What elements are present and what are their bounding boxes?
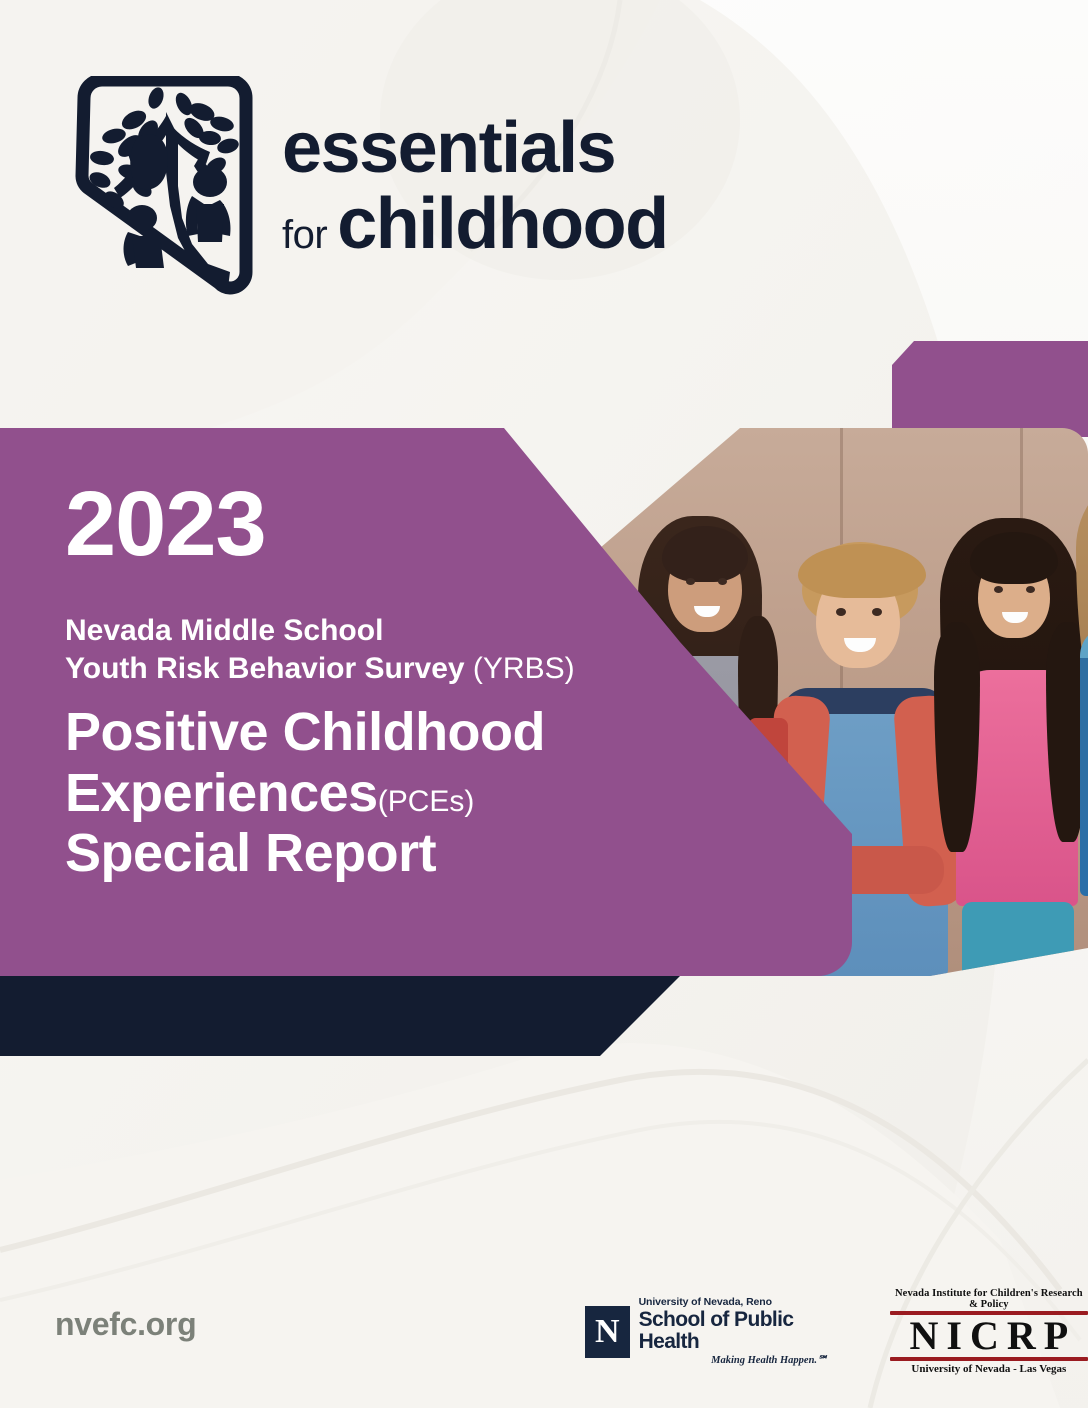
- brand-logo[interactable]: essentials for childhood: [70, 76, 668, 308]
- survey-subtitle: Nevada Middle School Youth Risk Behavior…: [65, 612, 645, 688]
- title-abbreviation: (PCEs): [378, 785, 475, 818]
- photo-child-3: [938, 502, 1088, 976]
- title-line-3: Special Report: [65, 823, 436, 883]
- unr-tagline: Making Health Happen.℠: [639, 1355, 828, 1366]
- nicrp-logo[interactable]: Nevada Institute for Children's Research…: [890, 1288, 1088, 1375]
- title-line-2: Experiences: [65, 763, 378, 823]
- brand-childhood-text: childhood: [337, 188, 667, 260]
- partner-logos: N University of Nevada, Reno School of P…: [585, 1288, 1088, 1375]
- brand-wordmark: essentials for childhood: [282, 112, 668, 260]
- website-url[interactable]: nvefc.org: [55, 1306, 196, 1343]
- unr-school-name: School of Public Health: [639, 1309, 828, 1353]
- nevada-tree-logo-icon: [70, 76, 260, 308]
- survey-line-1: Nevada Middle School: [65, 614, 383, 647]
- nicrp-institute-name: Nevada Institute for Children's Research…: [890, 1288, 1088, 1310]
- navy-accent-band: [0, 976, 680, 1056]
- nicrp-university-name: University of Nevada - Las Vegas: [890, 1363, 1088, 1375]
- unr-university-name: University of Nevada, Reno: [639, 1297, 828, 1308]
- purple-accent-shape: [892, 341, 1088, 437]
- unr-school-of-public-health-logo[interactable]: N University of Nevada, Reno School of P…: [585, 1297, 828, 1366]
- survey-abbreviation: (YRBS): [473, 652, 575, 685]
- page-title: Positive Childhood Experiences(PCEs) Spe…: [65, 702, 645, 883]
- photo-child-4: [1070, 476, 1088, 976]
- brand-essentials-text: essentials: [282, 112, 668, 184]
- survey-line-2: Youth Risk Behavior Survey: [65, 652, 465, 685]
- title-line-1: Positive Childhood: [65, 702, 545, 762]
- nicrp-acronym: NICRP: [890, 1316, 1088, 1356]
- brand-for-text: for: [282, 215, 327, 255]
- unr-monogram-icon: N: [585, 1306, 630, 1358]
- report-cover: essentials for childhood: [0, 0, 1088, 1408]
